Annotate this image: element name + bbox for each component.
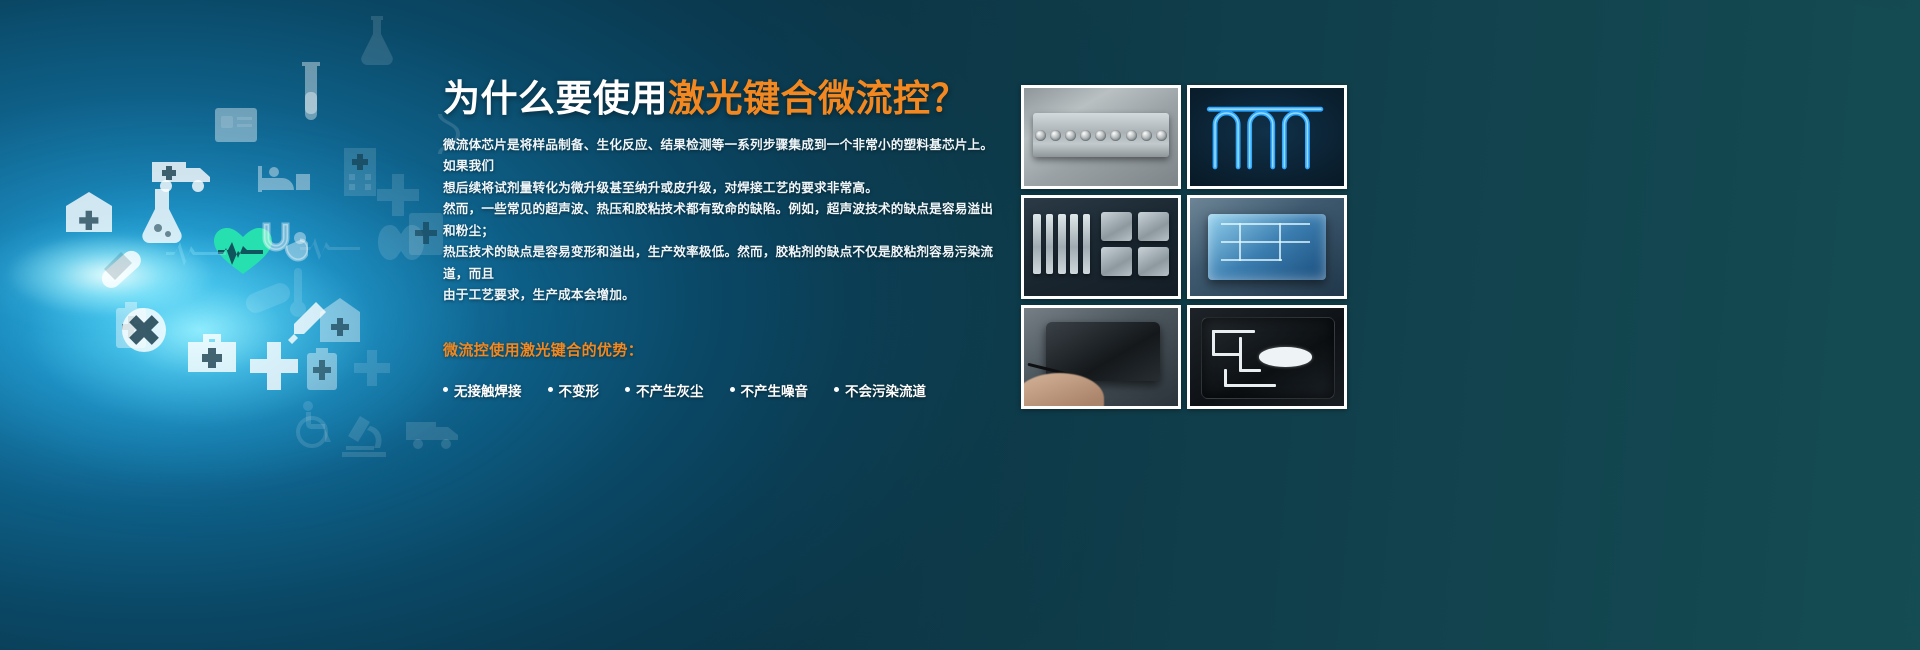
bullet-dot-icon (548, 387, 553, 392)
blue-glowing-serpentine-channel-photo (1190, 88, 1344, 186)
advantages-list: 无接触焊接 不变形 不产生灰尘 不产生噪音 不会污染流道 (443, 380, 1003, 400)
body-copy: 微流体芯片是将样品制备、生化反应、结果检测等一系列步骤集成到一个非常小的塑料基芯… (443, 135, 1003, 307)
gallery-item[interactable] (1021, 195, 1181, 299)
body-line: 想后续将试剂量转化为微升级甚至纳升或皮升级，对焊接工艺的要求非常高。 (443, 178, 1003, 200)
black-chip-white-channel-pattern-photo (1190, 308, 1344, 406)
clear-striped-chips-tray-photo (1024, 198, 1178, 296)
list-item: 无接触焊接 (443, 380, 522, 400)
text-content: 为什么要使用激光键合微流控？ 微流体芯片是将样品制备、生化反应、结果检测等一系列… (443, 78, 1003, 413)
banner-root: 为什么要使用激光键合微流控？ 微流体芯片是将样品制备、生化反应、结果检测等一系列… (0, 0, 1920, 650)
hand-holding-black-flexible-chip-photo (1024, 308, 1178, 406)
headline-highlight: 激光键合微流控？ (668, 78, 968, 119)
gallery-item[interactable] (1187, 305, 1347, 409)
body-line: 微流体芯片是将样品制备、生化反应、结果检测等一系列步骤集成到一个非常小的塑料基芯… (443, 135, 1003, 178)
list-item-label: 不会污染流道 (845, 380, 926, 400)
body-line: 由于工艺要求，生产成本会增加。 (443, 285, 1003, 307)
list-item: 不变形 (548, 380, 600, 400)
headline-plain: 为什么要使用 (443, 78, 668, 119)
list-item-label: 无接触焊接 (454, 380, 522, 400)
transparent-blue-acrylic-manifold-photo (1190, 198, 1344, 296)
list-item: 不会污染流道 (834, 380, 926, 400)
body-line: 然而，一些常见的超声波、热压和胶粘技术都有致命的缺陷。例如，超声波技术的缺点是容… (443, 199, 1003, 242)
advantages-subtitle: 微流控使用激光键合的优势： (443, 339, 1003, 360)
gallery-item[interactable] (1187, 195, 1347, 299)
bullet-dot-icon (625, 387, 630, 392)
gallery-item[interactable] (1187, 85, 1347, 189)
bullet-dot-icon (834, 387, 839, 392)
bullet-dot-icon (443, 387, 448, 392)
microfluidic-well-strip-photo (1024, 88, 1178, 186)
list-item: 不产生灰尘 (625, 380, 704, 400)
product-photo-gallery (1021, 85, 1347, 409)
page-title: 为什么要使用激光键合微流控？ (443, 78, 1003, 121)
gallery-item[interactable] (1021, 85, 1181, 189)
list-item: 不产生噪音 (730, 380, 809, 400)
list-item-label: 不变形 (559, 380, 600, 400)
list-item-label: 不产生灰尘 (636, 380, 704, 400)
bullet-dot-icon (730, 387, 735, 392)
body-line: 热压技术的缺点是容易变形和溢出，生产效率极低。然而，胶粘剂的缺点不仅是胶粘剂容易… (443, 242, 1003, 285)
list-item-label: 不产生噪音 (741, 380, 809, 400)
gallery-item[interactable] (1021, 305, 1181, 409)
